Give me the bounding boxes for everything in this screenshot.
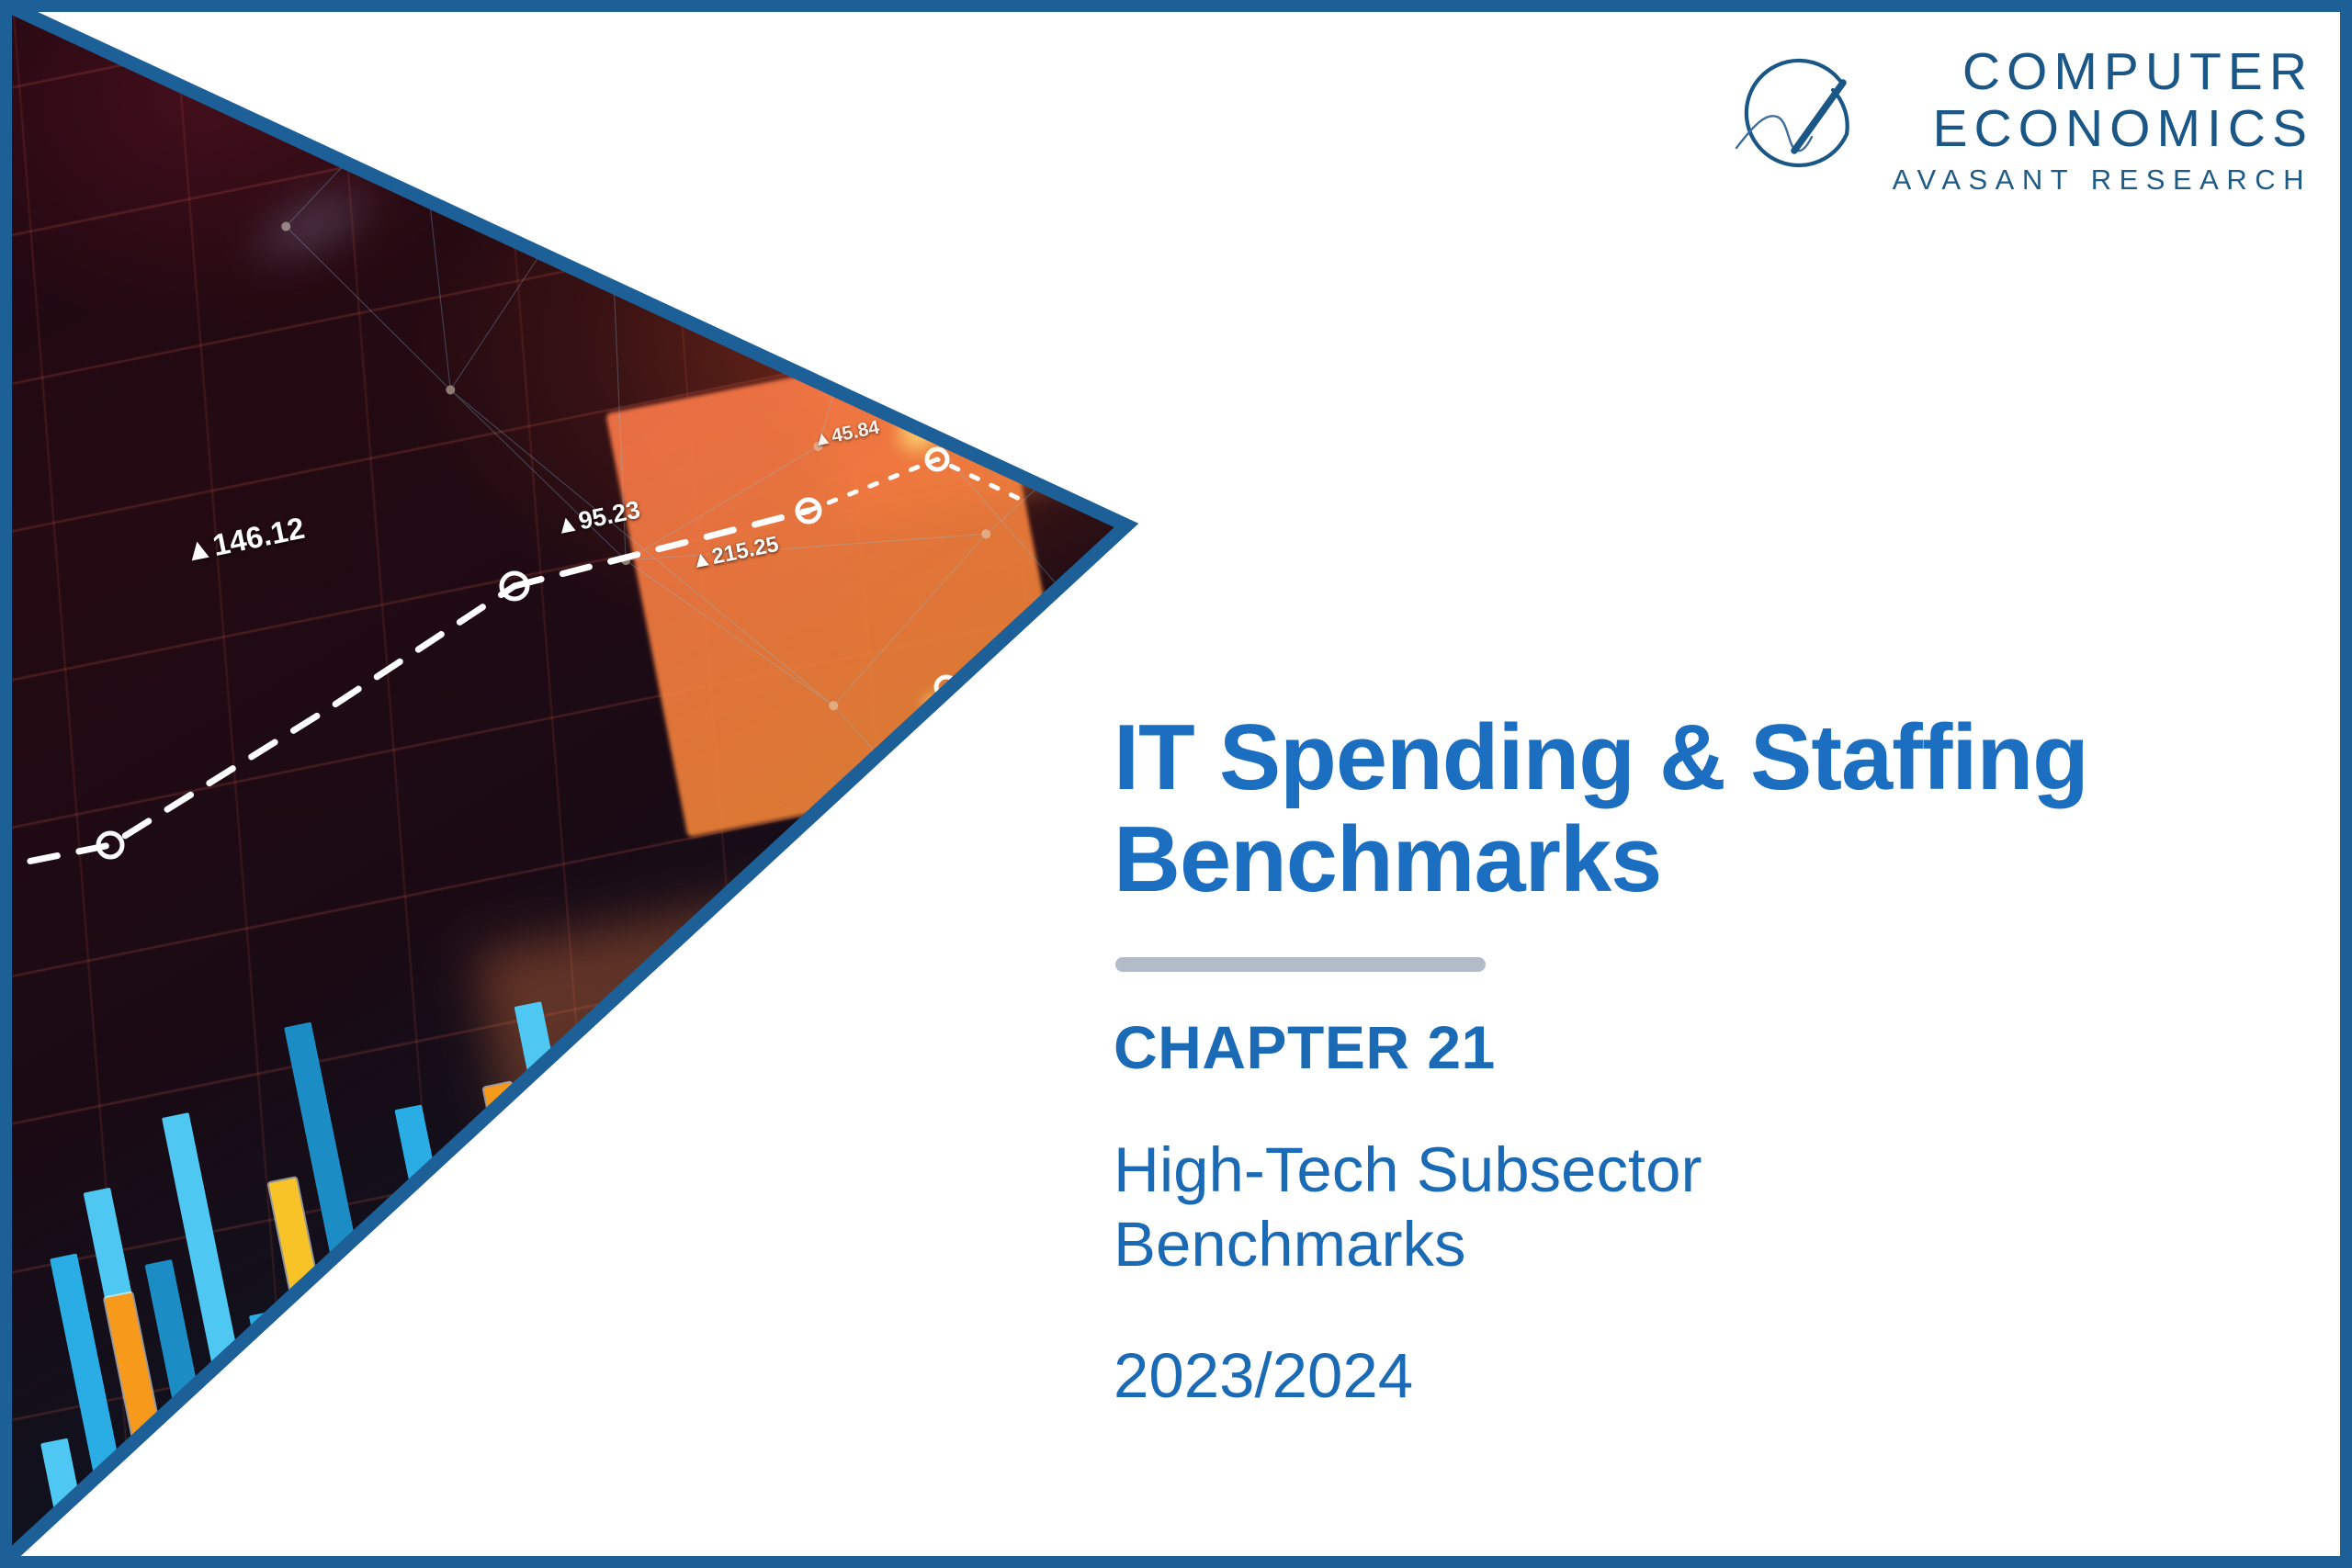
chart-bar bbox=[603, 1206, 696, 1539]
dashed-trend-lines bbox=[0, 0, 1132, 1568]
chart-bar-highlight bbox=[877, 1260, 933, 1472]
bar-group-right bbox=[698, 761, 1132, 1568]
chart-bar bbox=[1036, 1206, 1114, 1531]
chart-bar bbox=[481, 1303, 561, 1566]
chart-bar bbox=[599, 1437, 779, 1568]
chart-bar bbox=[844, 1219, 928, 1568]
page-title: IT Spending & Staffing Benchmarks bbox=[1114, 707, 2198, 911]
chart-bar bbox=[1039, 1337, 1091, 1536]
chart-bar bbox=[980, 1291, 1045, 1545]
edition-year: 2023/2024 bbox=[1114, 1339, 2244, 1412]
chart-bar bbox=[249, 1311, 336, 1568]
chart-bar bbox=[981, 1175, 1068, 1540]
logo-wordmark: COMPUTER ECONOMICS AVASANT RESEARCH bbox=[1893, 44, 2313, 198]
chart-bar bbox=[514, 1001, 651, 1548]
chart-bar bbox=[1073, 1492, 1132, 1568]
title-divider bbox=[1115, 957, 1486, 972]
circle-swoosh-logo-icon bbox=[1731, 52, 1869, 190]
logo-line-computer: COMPUTER bbox=[1962, 44, 2313, 101]
chart-bar-highlight bbox=[586, 1548, 702, 1568]
logo-line-economics: ECONOMICS bbox=[1932, 101, 2313, 158]
computer-economics-logo: COMPUTER ECONOMICS AVASANT RESEARCH bbox=[1731, 44, 2313, 198]
title-content-block: IT Spending & Staffing Benchmarks CHAPTE… bbox=[1114, 707, 2244, 1412]
chart-bar bbox=[899, 1508, 1052, 1568]
chart-bar bbox=[499, 1155, 606, 1557]
chart-bar bbox=[780, 1263, 857, 1568]
bokeh-highlight-1 bbox=[384, 94, 437, 147]
chart-bar bbox=[923, 1250, 998, 1555]
chart-bar bbox=[882, 1164, 975, 1560]
chapter-title: High-Tech Subsector Benchmarks bbox=[1114, 1134, 1940, 1281]
chart-bar bbox=[374, 1233, 471, 1568]
chart-bar bbox=[838, 1309, 904, 1568]
bokeh-highlight-2 bbox=[889, 404, 946, 461]
chart-bar-highlight bbox=[883, 1433, 1006, 1568]
logo-line-avasant-research: AVASANT RESEARCH bbox=[1893, 162, 2312, 198]
chart-bar-highlight bbox=[973, 1134, 1043, 1416]
chart-bar bbox=[421, 1435, 608, 1568]
chart-bar bbox=[892, 1335, 951, 1564]
chart-bar bbox=[981, 1387, 1132, 1568]
hero-chart-image: ▲146.12 ▲95.23 ▲215.25 ▲45.84 bbox=[0, 0, 1132, 1568]
chart-bar bbox=[800, 1376, 984, 1568]
chart-bar-highlight bbox=[768, 1205, 833, 1467]
chart-bar-highlight bbox=[484, 1082, 577, 1412]
bokeh-highlight-3 bbox=[919, 689, 950, 720]
title-slide: ▲146.12 ▲95.23 ▲215.25 ▲45.84 COMPUTER E… bbox=[0, 0, 2352, 1568]
chart-bar bbox=[751, 1482, 915, 1568]
chart-bar bbox=[780, 1143, 881, 1568]
chapter-label: CHAPTER 21 bbox=[1114, 1012, 2244, 1082]
chart-bar bbox=[919, 1104, 1022, 1551]
